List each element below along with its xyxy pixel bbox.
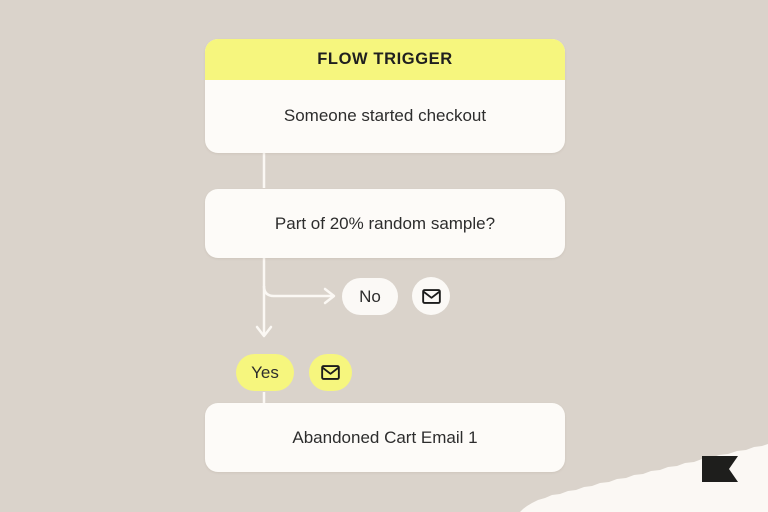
branch-pill-no[interactable]: No xyxy=(342,278,398,315)
condition-card[interactable]: Part of 20% random sample? xyxy=(205,189,565,258)
flow-trigger-header: FLOW TRIGGER xyxy=(205,39,565,80)
branch-email-badge-no[interactable] xyxy=(412,277,450,315)
flow-trigger-body: Someone started checkout xyxy=(205,80,565,152)
action-label: Abandoned Cart Email 1 xyxy=(205,403,565,472)
envelope-icon xyxy=(422,289,441,304)
branch-label-no: No xyxy=(359,287,381,307)
condition-label: Part of 20% random sample? xyxy=(205,189,565,258)
envelope-icon xyxy=(321,365,340,380)
flag-logo xyxy=(702,456,738,482)
action-card[interactable]: Abandoned Cart Email 1 xyxy=(205,403,565,472)
flow-trigger-card[interactable]: FLOW TRIGGER Someone started checkout xyxy=(205,39,565,153)
flow-diagram-canvas: FLOW TRIGGER Someone started checkout Pa… xyxy=(0,0,768,512)
branch-label-yes: Yes xyxy=(251,363,279,383)
branch-email-badge-yes[interactable] xyxy=(309,354,352,391)
branch-pill-yes[interactable]: Yes xyxy=(236,354,294,391)
